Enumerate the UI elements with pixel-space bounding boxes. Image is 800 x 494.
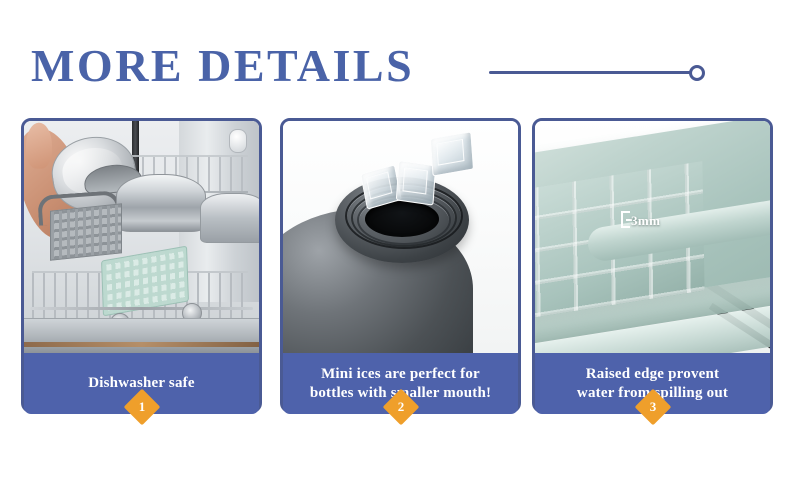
step-badge-2: 2 [382,389,419,426]
page-header: MORE DETAILS [0,0,800,118]
circle-outline-icon [689,65,705,81]
step-badge-number: 3 [640,394,666,420]
dishwasher-floor [24,318,259,353]
rack-rail [30,307,253,310]
ice-tray-photo: 3mm [535,121,770,353]
dimension-label: 3mm [631,213,660,229]
step-badge-number: 1 [129,394,155,420]
feature-card-1[interactable]: Dishwasher safe 1 [21,118,262,413]
step-badge-number: 2 [388,394,414,420]
ice-cube [396,160,436,205]
stainless-pot-secondary [200,193,259,243]
feature-card-3[interactable]: 3mm Raised edge provent water from spill… [532,118,773,413]
ice-cube-floating [430,131,474,176]
measurement-caliper-icon [621,211,630,228]
utensil-basket [50,203,122,261]
dishwasher-emblem-icon [229,129,247,153]
feature-card-row: Dishwasher safe 1 Mini ices are perfect … [0,118,800,418]
step-badge-1: 1 [123,389,160,426]
bottle-photo [283,121,518,353]
stainless-pot [116,174,206,232]
feature-card-2[interactable]: Mini ices are perfect for bottles with s… [280,118,521,413]
dishwasher-photo [24,121,259,353]
step-badge-3: 3 [634,389,671,426]
title-divider-line [489,71,692,74]
page-title: MORE DETAILS [31,38,414,94]
